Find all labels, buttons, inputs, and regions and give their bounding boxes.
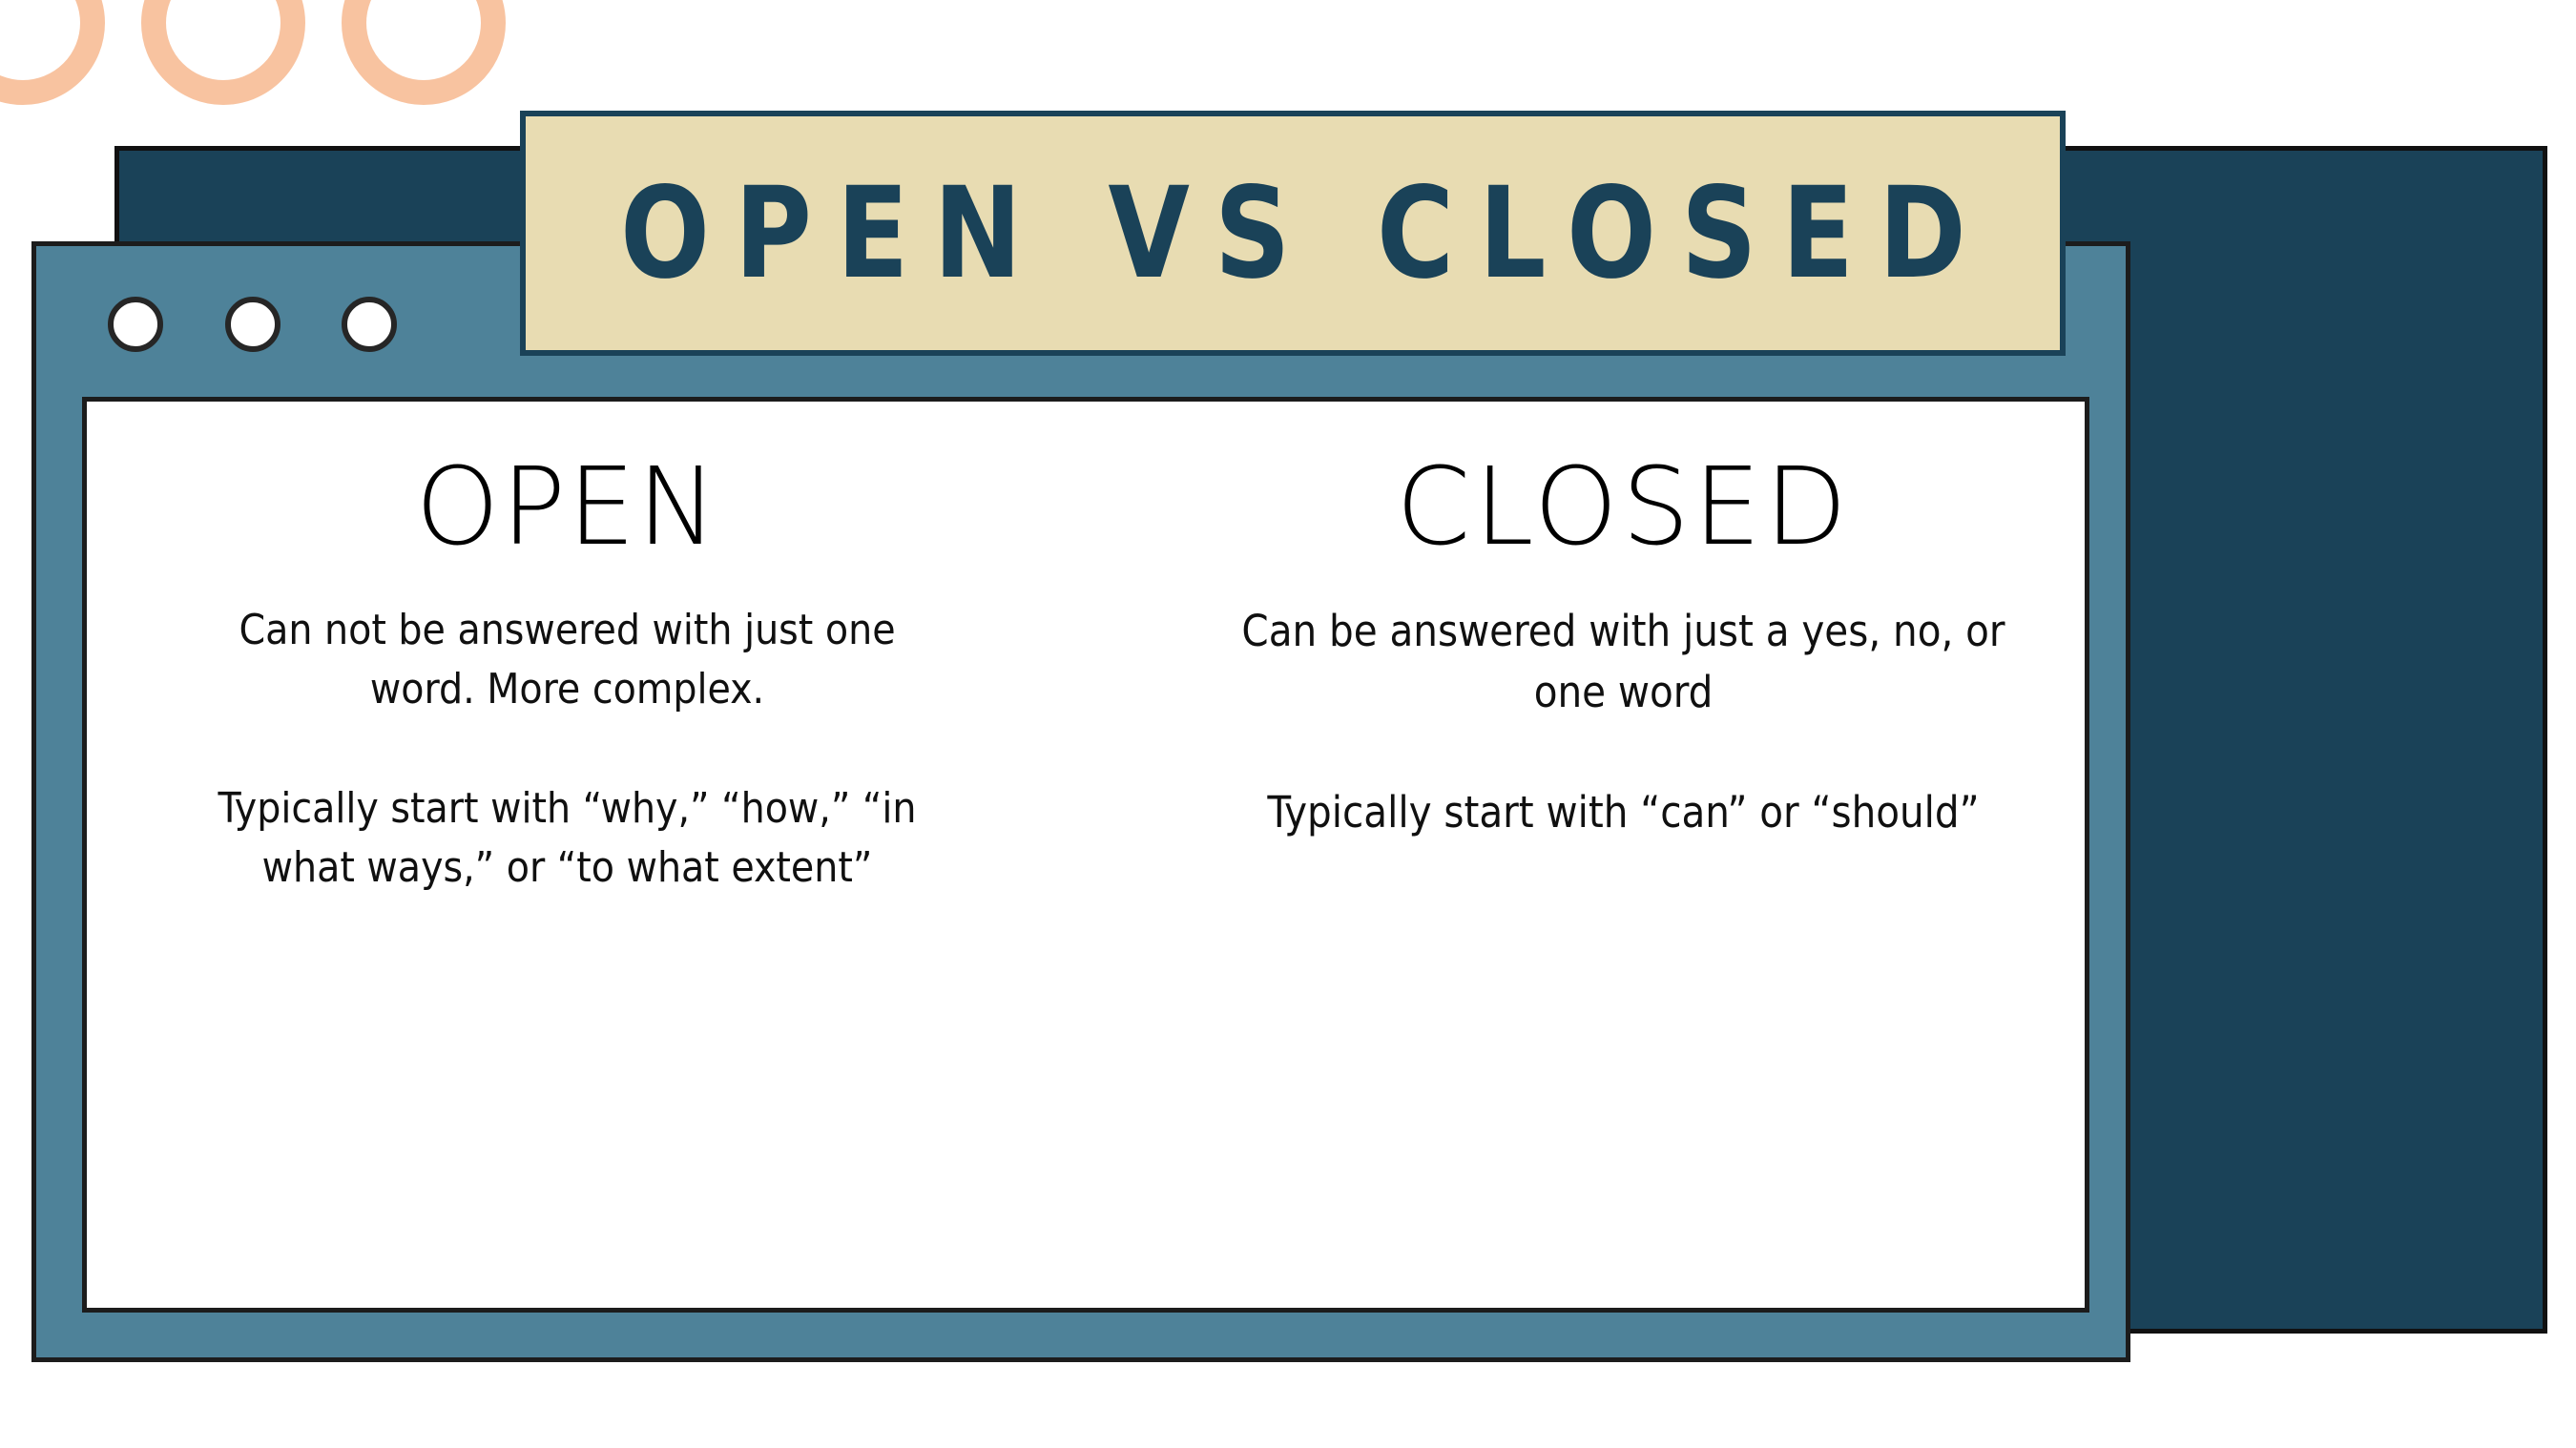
column-closed-paragraph-1: Can be answered with just a yes, no, or … [1229,601,2018,723]
column-open-paragraph-1: Can not be answered with just one word. … [192,601,943,720]
decorative-ring-icon [141,0,305,105]
column-open: OPEN Can not be answered with just one w… [87,402,1086,1308]
window-dot-maximize-icon[interactable] [342,297,397,352]
column-closed: CLOSED Can be answered with just a yes, … [1086,402,2085,1308]
title-banner: OPEN VS CLOSED [520,111,2066,356]
title-banner-text: OPEN VS CLOSED [595,171,1991,297]
column-open-heading: OPEN [192,454,943,561]
window-dot-minimize-icon[interactable] [225,297,280,352]
column-closed-paragraph-2: Typically start with “can” or “should” [1229,782,2018,843]
decorative-ring-icon [342,0,506,105]
decorative-ring-icon [0,0,105,105]
column-closed-heading: CLOSED [1229,454,2018,561]
column-closed-paragraphs: Can be answered with just a yes, no, or … [1229,601,2018,843]
column-open-paragraph-2: Typically start with “why,” “how,” “in w… [192,779,943,899]
window-content-area: OPEN Can not be answered with just one w… [82,397,2089,1313]
window-dot-close-icon[interactable] [108,297,163,352]
window-frame: OPEN Can not be answered with just one w… [31,241,2130,1362]
